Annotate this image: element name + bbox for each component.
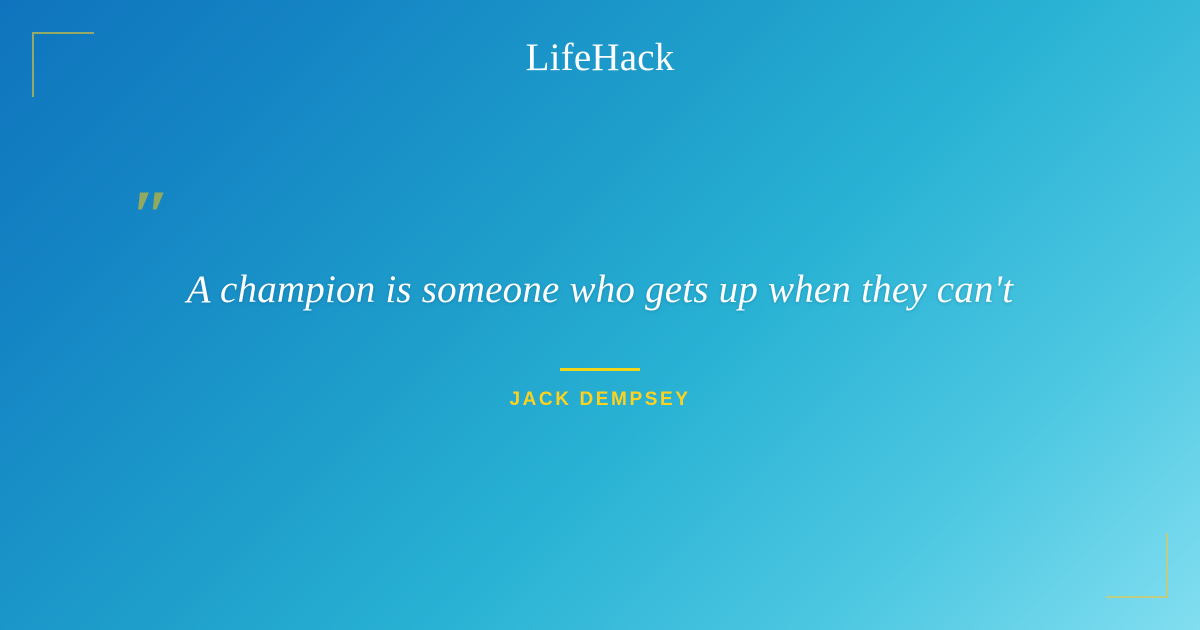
corner-bracket-bottom-right: [1106, 533, 1168, 598]
quote-card: LifeHack ″ A champion is someone who get…: [0, 0, 1200, 630]
brand-logo: LifeHack: [0, 38, 1200, 77]
quote-text: A champion is someone who gets up when t…: [0, 266, 1200, 314]
divider-rule: [560, 368, 640, 371]
quotation-mark-icon: ″: [131, 180, 171, 252]
divider-wrapper: [0, 358, 1200, 376]
quote-author: JACK DEMPSEY: [0, 390, 1200, 409]
